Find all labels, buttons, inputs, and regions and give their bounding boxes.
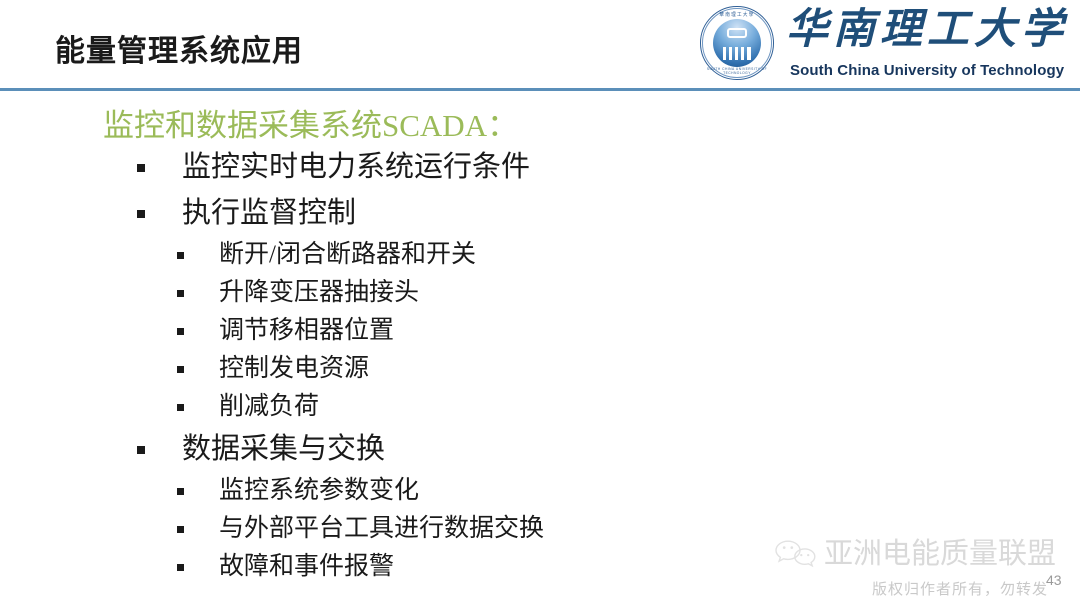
- bullet-item: 监控实时电力系统运行条件: [0, 144, 1080, 190]
- university-logo: 華南理工大學 SOUTH CHINA UNIVERSITY OF TECHNOL…: [694, 4, 1066, 84]
- page-title: 能量管理系统应用: [55, 33, 303, 71]
- square-bullet-icon: [177, 290, 184, 297]
- bullet-text: 控制发电资源: [219, 350, 369, 388]
- bullet-text: 执行监督控制: [182, 190, 356, 236]
- seal-columns-motif: [723, 47, 751, 60]
- square-bullet-icon: [177, 488, 184, 495]
- seal-emblem-top: [727, 28, 747, 38]
- bullet-list: 监控实时电力系统运行条件执行监督控制断开/闭合断路器和开关升降变压器抽接头调节移…: [0, 144, 1080, 586]
- university-name-cn: 华南理工大学: [786, 4, 1068, 56]
- square-bullet-icon: [137, 210, 145, 218]
- square-bullet-icon: [137, 164, 145, 172]
- watermark-label: 亚洲电能质量联盟: [824, 535, 1056, 573]
- bullet-text: 与外部平台工具进行数据交换: [219, 510, 544, 548]
- university-seal-icon: 華南理工大學 SOUTH CHINA UNIVERSITY OF TECHNOL…: [700, 6, 774, 80]
- square-bullet-icon: [177, 564, 184, 571]
- wechat-icon: [774, 538, 818, 568]
- bullet-item: 监控系统参数变化: [0, 472, 1080, 510]
- bullet-text: 监控系统参数变化: [219, 472, 419, 510]
- bullet-item: 控制发电资源: [0, 350, 1080, 388]
- slide-header: 能量管理系统应用 華南理工大學 SOUTH CHINA UNIVERSITY O…: [0, 0, 1080, 89]
- watermark: 亚洲电能质量联盟: [774, 535, 1074, 581]
- square-bullet-icon: [177, 404, 184, 411]
- section-heading: 监控和数据采集系统SCADA：: [103, 106, 518, 146]
- header-divider: [0, 88, 1080, 91]
- bullet-item: 执行监督控制: [0, 190, 1080, 236]
- bullet-item: 升降变压器抽接头: [0, 274, 1080, 312]
- bullet-item: 调节移相器位置: [0, 312, 1080, 350]
- seal-text-top: 華南理工大學: [704, 11, 770, 18]
- bullet-item: 断开/闭合断路器和开关: [0, 236, 1080, 274]
- bullet-item: 数据采集与交换: [0, 426, 1080, 472]
- square-bullet-icon: [177, 252, 184, 259]
- seal-text-bottom: SOUTH CHINA UNIVERSITY OF TECHNOLOGY: [704, 67, 770, 75]
- square-bullet-icon: [137, 446, 145, 454]
- bullet-text: 削减负荷: [219, 388, 319, 426]
- bullet-text: 数据采集与交换: [182, 426, 385, 472]
- bullet-text: 故障和事件报警: [219, 548, 394, 586]
- bullet-item: 削减负荷: [0, 388, 1080, 426]
- page-number: 43: [1046, 572, 1062, 588]
- bullet-text: 监控实时电力系统运行条件: [182, 144, 530, 190]
- bullet-text: 升降变压器抽接头: [219, 274, 419, 312]
- seal-inner-disc: [713, 19, 761, 67]
- university-name-en: South China University of Technology: [790, 62, 1064, 79]
- square-bullet-icon: [177, 328, 184, 335]
- presentation-slide: 能量管理系统应用 華南理工大學 SOUTH CHINA UNIVERSITY O…: [0, 0, 1080, 608]
- bullet-text: 断开/闭合断路器和开关: [219, 236, 476, 274]
- copyright-notice: 版权归作者所有，勿转发: [872, 580, 1048, 600]
- square-bullet-icon: [177, 526, 184, 533]
- square-bullet-icon: [177, 366, 184, 373]
- bullet-text: 调节移相器位置: [219, 312, 394, 350]
